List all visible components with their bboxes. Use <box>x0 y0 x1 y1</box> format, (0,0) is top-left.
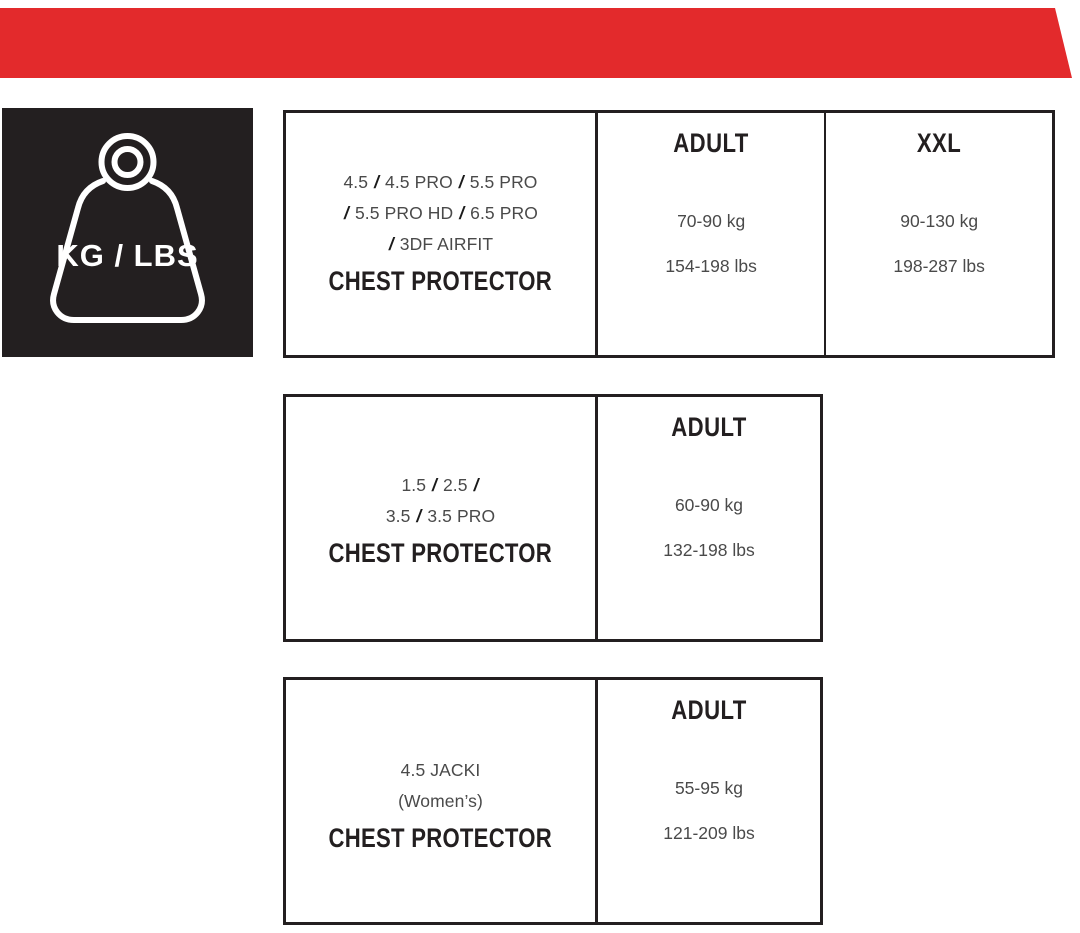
model-line: 3.5 / 3.5 PRO <box>304 501 577 532</box>
size-table-1: 4.5 / 4.5 PRO / 5.5 PRO / 5.5 PRO HD / 6… <box>283 110 1055 358</box>
size-label: ADULT <box>671 414 746 441</box>
model-line: / 5.5 PRO HD / 6.5 PRO <box>304 198 577 229</box>
model-cell: 4.5 / 4.5 PRO / 5.5 PRO / 5.5 PRO HD / 6… <box>286 113 595 355</box>
weight-icon-tile: KG / LBS <box>2 108 253 357</box>
size-label: ADULT <box>673 130 748 157</box>
size-label: XXL <box>917 130 961 157</box>
weight-lbs: 198-287 lbs <box>893 256 984 277</box>
model-cell: 1.5 / 2.5 / 3.5 / 3.5 PRO CHEST PROTECTO… <box>286 397 595 639</box>
model-line: 4.5 JACKI <box>304 755 577 786</box>
product-type-label: CHEST PROTECTOR <box>329 539 552 567</box>
weight-kg: 55-95 kg <box>675 778 743 799</box>
size-column-adult: ADULT 55-95 kg 121-209 lbs <box>595 680 820 922</box>
size-column-xxl: XXL 90-130 kg 198-287 lbs <box>824 113 1052 355</box>
model-cell: 4.5 JACKI (Women’s) CHEST PROTECTOR <box>286 680 595 922</box>
model-line: 1.5 / 2.5 / <box>304 470 577 501</box>
weight-kg: 90-130 kg <box>900 211 978 232</box>
product-type-label: CHEST PROTECTOR <box>329 824 552 852</box>
header-banner <box>0 8 1075 78</box>
model-line: 4.5 / 4.5 PRO / 5.5 PRO <box>304 167 577 198</box>
model-line: (Women’s) <box>304 786 577 817</box>
svg-text:KG / LBS: KG / LBS <box>56 238 198 273</box>
size-column-adult: ADULT 70-90 kg 154-198 lbs <box>595 113 824 355</box>
model-names: 4.5 / 4.5 PRO / 5.5 PRO / 5.5 PRO HD / 6… <box>304 167 577 260</box>
weight-kg: 70-90 kg <box>677 211 745 232</box>
size-chart-page: CHEST PROTECTORS KG / LBS 4.5 / 4.5 PRO … <box>0 0 1080 933</box>
size-table-3: 4.5 JACKI (Women’s) CHEST PROTECTOR ADUL… <box>283 677 823 925</box>
weight-lbs: 154-198 lbs <box>665 256 756 277</box>
size-column-adult: ADULT 60-90 kg 132-198 lbs <box>595 397 820 639</box>
size-label: ADULT <box>671 697 746 724</box>
model-names: 1.5 / 2.5 / 3.5 / 3.5 PRO <box>304 470 577 532</box>
weight-lbs: 132-198 lbs <box>663 540 754 561</box>
model-line: / 3DF AIRFIT <box>304 229 577 260</box>
size-table-2: 1.5 / 2.5 / 3.5 / 3.5 PRO CHEST PROTECTO… <box>283 394 823 642</box>
weight-kg-lbs-icon: KG / LBS <box>2 108 253 357</box>
weight-kg: 60-90 kg <box>675 495 743 516</box>
product-type-label: CHEST PROTECTOR <box>329 267 552 295</box>
weight-lbs: 121-209 lbs <box>663 823 754 844</box>
model-names: 4.5 JACKI (Women’s) <box>304 755 577 817</box>
